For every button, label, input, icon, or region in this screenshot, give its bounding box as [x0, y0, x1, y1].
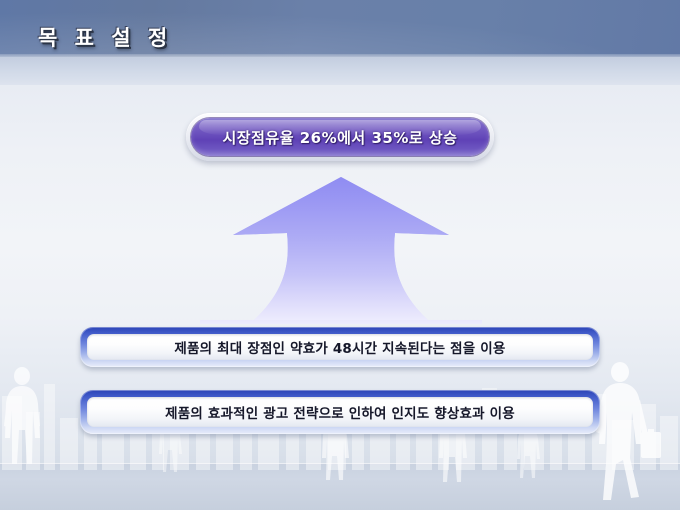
- statement-box-1-label: 제품의 최대 장점인 약효가 48시간 지속된다는 점을 이용: [174, 337, 505, 357]
- person-silhouette-right-large: [596, 362, 661, 500]
- slide-canvas: 목 표 설 정: [0, 0, 680, 510]
- up-arrow-icon: [196, 172, 486, 324]
- statement-box-1[interactable]: 제품의 최대 장점인 약효가 48시간 지속된다는 점을 이용: [80, 327, 600, 367]
- statement-box-2-panel: 제품의 효과적인 광고 전략으로 인하여 인지도 향상효과 이용: [87, 397, 593, 427]
- statement-box-1-panel: 제품의 최대 장점인 약효가 48시간 지속된다는 점을 이용: [87, 334, 593, 360]
- people-silhouettes-icon: [0, 360, 680, 510]
- statement-box-2[interactable]: 제품의 효과적인 광고 전략으로 인하여 인지도 향상효과 이용: [80, 390, 600, 434]
- background-scenery: [0, 360, 680, 510]
- statement-box-2-label: 제품의 효과적인 광고 전략으로 인하여 인지도 향상효과 이용: [165, 402, 515, 422]
- growth-arrow: [196, 172, 486, 324]
- person-silhouette-left: [4, 367, 40, 464]
- header-underband: [0, 57, 680, 85]
- goal-pill-body: 시장점유율 26%에서 35%로 상승: [191, 118, 489, 156]
- goal-pill[interactable]: 시장점유율 26%에서 35%로 상승: [186, 113, 494, 161]
- page-title: 목 표 설 정: [38, 22, 172, 52]
- goal-pill-label: 시장점유율 26%에서 35%로 상승: [223, 127, 458, 148]
- ground-plane: [0, 463, 680, 510]
